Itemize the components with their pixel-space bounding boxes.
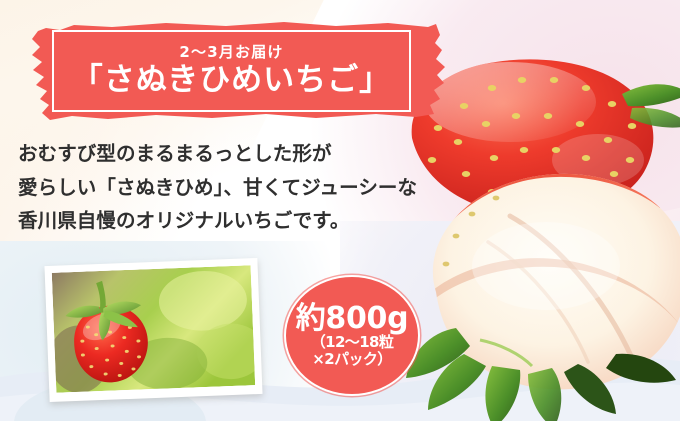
strawberry-thumbnail-photo [44,258,262,402]
description-line-3: 香川県自慢のオリジナルいちごです。 [18,204,448,238]
banner-headline: 「さぬきひめいちご」 [72,64,391,97]
description-line-1: おむすび型のまるまるっとした形が [18,137,448,171]
thumbnail-image [52,265,255,393]
title-banner: 2〜3月お届け 「さぬきひめいちご」 [16,17,461,125]
description-text: おむすび型のまるまるっとした形が 愛らしい「さぬきひめ」、甘くてジューシーな 香… [18,137,448,238]
weight-detail: （12〜18粒 ×2パック） [311,335,394,368]
weight-detail-line-2: ×2パック） [311,352,394,368]
weight-badge-disc: 約800g （12〜18粒 ×2パック） [284,275,420,396]
weight-badge: 約800g （12〜18粒 ×2パック） [284,275,420,396]
weight-detail-line-1: （12〜18粒 [311,335,394,351]
weight-value: 約800g [296,304,409,334]
banner-kicker: 2〜3月お届け [179,45,283,60]
description-line-2: 愛らしい「さぬきひめ」、甘くてジューシーな [18,171,448,205]
promo-banner-card: 2〜3月お届け 「さぬきひめいちご」 おむすび型のまるまるっとした形が 愛らしい… [0,0,680,421]
